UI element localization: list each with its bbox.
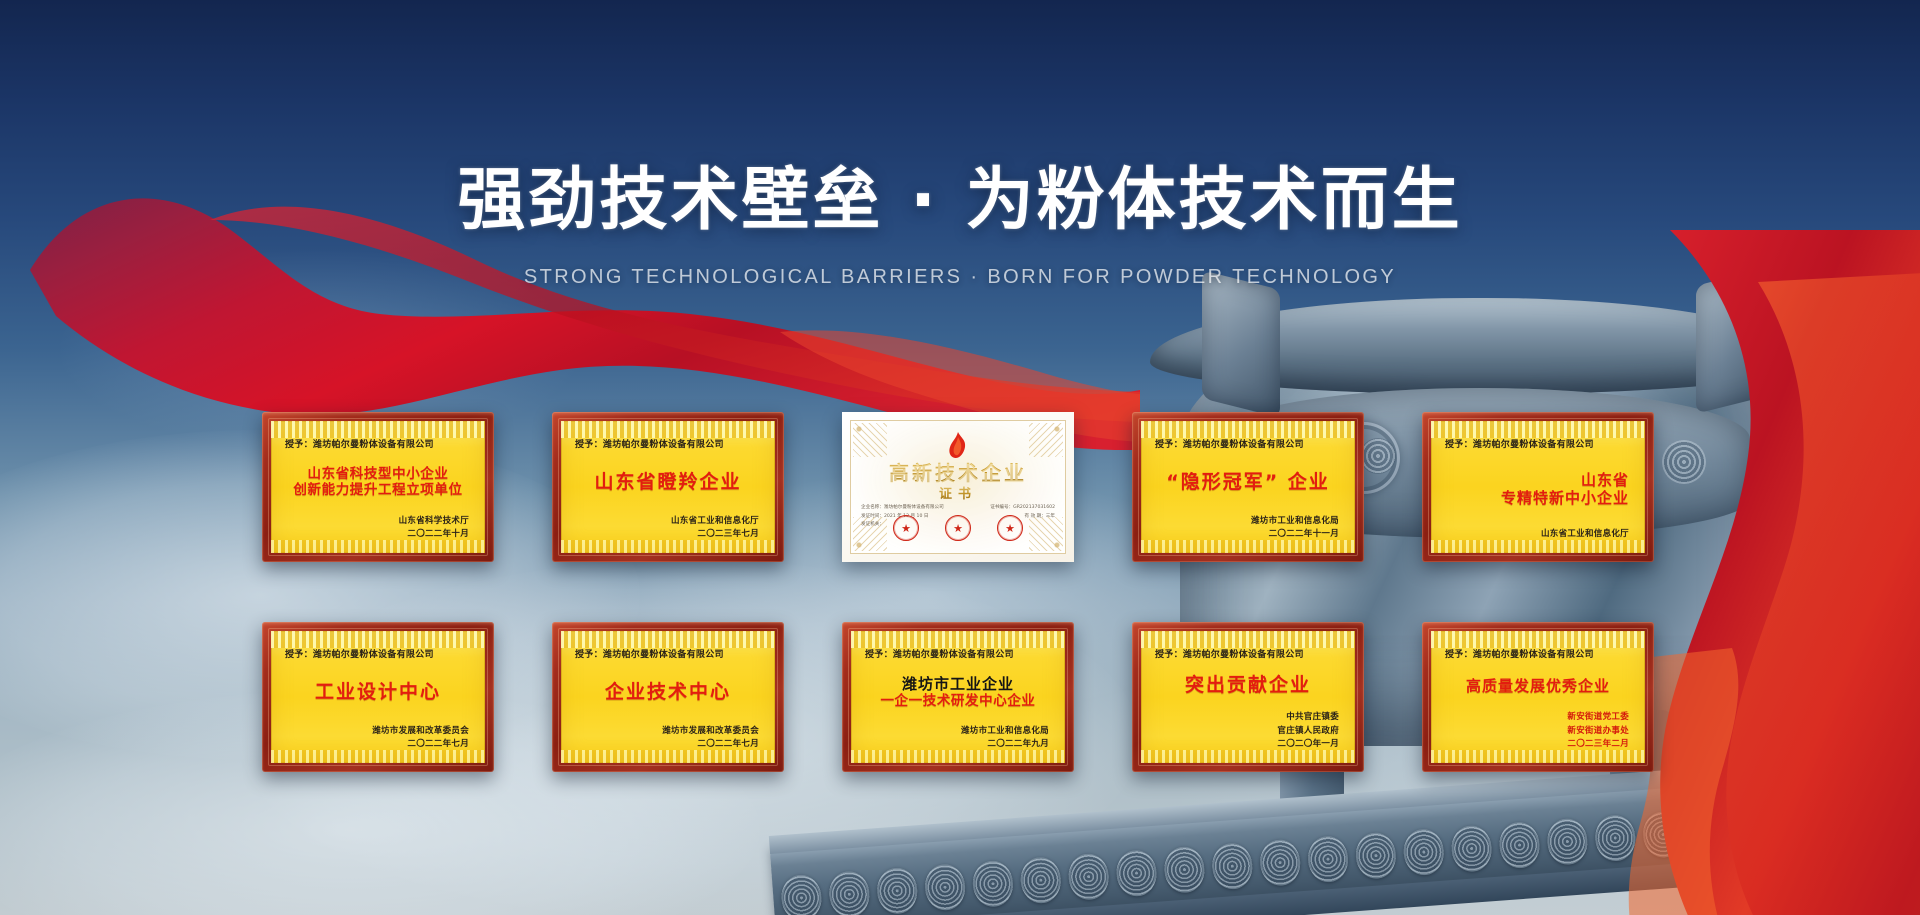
award-plaque[interactable]: 授予：潍坊帕尔曼粉体设备有限公司 山东省瞪羚企业 山东省工业和信息化厅 二〇二三… [552,412,784,562]
plaque-issuer-line: 新安街道党工委 [1443,711,1629,724]
plaque-title-line: 一企一技术研发中心企业 [880,693,1035,709]
red-seal-icon: ★ [945,515,971,541]
plaque-panel: 授予：潍坊帕尔曼粉体设备有限公司 山东省科技型中小企业 创新能力提升工程立项单位… [271,421,485,553]
plaque-title: 山东省瞪羚企业 [573,450,763,515]
plaque-panel: 授予：潍坊帕尔曼粉体设备有限公司 山东省瞪羚企业 山东省工业和信息化厅 二〇二三… [561,421,775,553]
certificate-title: 高新技术企业 [851,457,1065,486]
stone-plinth [770,768,1920,915]
plaque-title: 企业技术中心 [573,660,763,725]
corner-ornament-icon [853,423,887,457]
plaque-title-line: 企业技术中心 [605,681,731,704]
plaque-title: 突出贡献企业 [1153,660,1343,711]
certificate-subtitle: 证书 [851,483,1065,502]
plaque-title: “隐形冠军” 企业 [1153,450,1343,515]
plaque-issuer: 中共官庄镇委 官庄镇人民政府 二〇二〇年一月 [1153,711,1339,751]
award-plaque[interactable]: 授予：潍坊帕尔曼粉体设备有限公司 突出贡献企业 中共官庄镇委 官庄镇人民政府 二… [1132,622,1364,772]
plaque-panel: 授予：潍坊帕尔曼粉体设备有限公司 企业技术中心 潍坊市发展和改革委员会 二〇二二… [561,631,775,763]
award-plaque[interactable]: 授予：潍坊帕尔曼粉体设备有限公司 高质量发展优秀企业 新安街道党工委 新安街道办… [1422,622,1654,772]
certificate-field: 证书编号：GR202137031602 [990,504,1055,513]
plaque-issuer-date: 二〇二二年七月 [573,738,759,751]
plaque-panel: 授予：潍坊帕尔曼粉体设备有限公司 山东省 专精特新中小企业 山东省工业和信息化厅 [1431,421,1645,553]
plaque-issuer: 新安街道党工委 新安街道办事处 二〇二三年二月 [1443,711,1629,751]
plaque-title-line: 山东省 [1581,471,1629,489]
plaque-panel: 授予：潍坊帕尔曼粉体设备有限公司 “隐形冠军” 企业 潍坊市工业和信息化局 二〇… [1141,421,1355,553]
plaque-issuer-line: 中共官庄镇委 [1153,711,1339,724]
certificate-seals: ★ ★ ★ [851,515,1065,541]
plaque-issuer-date: 二〇二〇年一月 [1153,738,1339,751]
plaque-issuer: 潍坊市发展和改革委员会 二〇二二年七月 [573,725,759,751]
award-plaque[interactable]: 授予：潍坊帕尔曼粉体设备有限公司 山东省科技型中小企业 创新能力提升工程立项单位… [262,412,494,562]
red-ribbon-left-icon [0,70,1140,450]
plaque-panel: 授予：潍坊帕尔曼粉体设备有限公司 潍坊市工业企业 一企一技术研发中心企业 潍坊市… [851,631,1065,763]
plaque-issuer: 山东省工业和信息化厅 [1443,528,1629,541]
plaque-panel: 授予：潍坊帕尔曼粉体设备有限公司 高质量发展优秀企业 新安街道党工委 新安街道办… [1431,631,1645,763]
corner-ornament-icon [1029,423,1063,457]
plaque-title: 山东省 专精特新中小企业 [1443,450,1633,528]
plaque-award-line: 授予：潍坊帕尔曼粉体设备有限公司 [1155,647,1343,660]
page-subtitle: STRONG TECHNOLOGICAL BARRIERS · BORN FOR… [0,266,1920,289]
high-tech-certificate[interactable]: 高新技术企业 证书 企业名称：潍坊帕尔曼粉体设备有限公司 证书编号：GR2021… [842,412,1074,562]
award-plaque[interactable]: 授予：潍坊帕尔曼粉体设备有限公司 工业设计中心 潍坊市发展和改革委员会 二〇二二… [262,622,494,772]
award-plaque[interactable]: 授予：潍坊帕尔曼粉体设备有限公司 “隐形冠军” 企业 潍坊市工业和信息化局 二〇… [1132,412,1364,562]
plaque-award-line: 授予：潍坊帕尔曼粉体设备有限公司 [1155,437,1343,450]
plaque-issuer-date: 二〇二二年十月 [283,528,469,541]
plaque-issuer-line: 潍坊市发展和改革委员会 [573,725,759,738]
award-plaque[interactable]: 授予：潍坊帕尔曼粉体设备有限公司 山东省 专精特新中小企业 山东省工业和信息化厅 [1422,412,1654,562]
plaque-issuer: 潍坊市发展和改革委员会 二〇二二年七月 [283,725,469,751]
plaque-award-line: 授予：潍坊帕尔曼粉体设备有限公司 [1445,437,1633,450]
plaque-panel: 授予：潍坊帕尔曼粉体设备有限公司 工业设计中心 潍坊市发展和改革委员会 二〇二二… [271,631,485,763]
certificate-inner: 高新技术企业 证书 企业名称：潍坊帕尔曼粉体设备有限公司 证书编号：GR2021… [850,420,1066,554]
plaque-title-line: 山东省瞪羚企业 [594,471,741,494]
plaque-issuer-date: 二〇二三年二月 [1443,738,1629,751]
plaque-title-line: 高质量发展优秀企业 [1466,677,1610,695]
plaque-issuer-line: 山东省工业和信息化厅 [1443,528,1629,541]
plaque-issuer: 潍坊市工业和信息化局 二〇二二年十一月 [1153,515,1339,541]
plaque-issuer: 山东省工业和信息化厅 二〇二三年七月 [573,515,759,541]
red-seal-icon: ★ [893,515,919,541]
plaque-issuer-date: 二〇二二年七月 [283,738,469,751]
plaque-title-line: “隐形冠军” 企业 [1166,471,1330,494]
plaque-panel: 授予：潍坊帕尔曼粉体设备有限公司 突出贡献企业 中共官庄镇委 官庄镇人民政府 二… [1141,631,1355,763]
plaque-issuer-line: 山东省科学技术厅 [283,515,469,528]
plaque-title-line: 专精特新中小企业 [1501,489,1629,507]
plaque-title: 工业设计中心 [283,660,473,725]
plaque-issuer-line: 官庄镇人民政府 [1153,725,1339,738]
plaque-title-line: 工业设计中心 [315,681,441,704]
plaque-award-line: 授予：潍坊帕尔曼粉体设备有限公司 [575,437,763,450]
certificate-field: 企业名称：潍坊帕尔曼粉体设备有限公司 [861,504,944,513]
plaque-title-line: 创新能力提升工程立项单位 [293,482,462,498]
plaque-issuer-line: 潍坊市工业和信息化局 [1153,515,1339,528]
plaque-issuer-line: 山东省工业和信息化厅 [573,515,759,528]
plaque-issuer-date: 二〇二二年十一月 [1153,528,1339,541]
plaque-issuer: 潍坊市工业和信息化局 二〇二二年九月 [863,725,1049,751]
award-grid: 授予：潍坊帕尔曼粉体设备有限公司 山东省科技型中小企业 创新能力提升工程立项单位… [262,412,1662,772]
plaque-title: 潍坊市工业企业 一企一技术研发中心企业 [863,660,1053,725]
plaque-issuer-date: 二〇二三年七月 [573,528,759,541]
plaque-award-line: 授予：潍坊帕尔曼粉体设备有限公司 [865,647,1053,660]
award-plaque[interactable]: 授予：潍坊帕尔曼粉体设备有限公司 企业技术中心 潍坊市发展和改革委员会 二〇二二… [552,622,784,772]
plaque-title-line: 突出贡献企业 [1185,674,1311,697]
plaque-title-line: 潍坊市工业企业 [902,675,1014,693]
plaque-issuer-line: 潍坊市工业和信息化局 [863,725,1049,738]
page-title: 强劲技术壁垒 · 为粉体技术而生 [0,164,1920,237]
plaque-issuer: 山东省科学技术厅 二〇二二年十月 [283,515,469,541]
plaque-award-line: 授予：潍坊帕尔曼粉体设备有限公司 [1445,647,1633,660]
plaque-award-line: 授予：潍坊帕尔曼粉体设备有限公司 [575,647,763,660]
plaque-award-line: 授予：潍坊帕尔曼粉体设备有限公司 [285,437,473,450]
plaque-issuer-date: 二〇二二年九月 [863,738,1049,751]
plaque-issuer-line: 潍坊市发展和改革委员会 [283,725,469,738]
hero-banner: 强劲技术壁垒 · 为粉体技术而生 STRONG TECHNOLOGICAL BA… [0,0,1920,915]
plaque-award-line: 授予：潍坊帕尔曼粉体设备有限公司 [285,647,473,660]
plaque-title: 山东省科技型中小企业 创新能力提升工程立项单位 [283,450,473,515]
red-flame-emblem-icon [947,432,969,458]
red-seal-icon: ★ [997,515,1023,541]
plaque-issuer-line: 新安街道办事处 [1443,725,1629,738]
plaque-title-line: 山东省科技型中小企业 [308,466,449,482]
award-plaque[interactable]: 授予：潍坊帕尔曼粉体设备有限公司 潍坊市工业企业 一企一技术研发中心企业 潍坊市… [842,622,1074,772]
plaque-title: 高质量发展优秀企业 [1443,660,1633,711]
